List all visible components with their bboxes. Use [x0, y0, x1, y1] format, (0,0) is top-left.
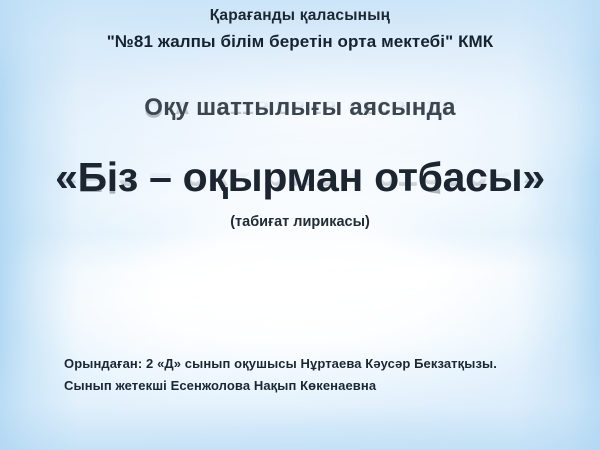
event-subtitle-text: Оқу шаттылығы аясында [0, 96, 600, 120]
credits-block: Орындаған: 2 «Д» сынып оқушысы Нұртаева … [64, 353, 497, 398]
credit-supervisor: Сынып жетекші Есенжолова Нақып Көкенаевн… [64, 375, 497, 397]
presentation-title-slide: Қарағанды қаласының "№81 жалпы білім бер… [0, 0, 600, 450]
credit-performer: Орындаған: 2 «Д» сынып оқушысы Нұртаева … [64, 353, 497, 375]
event-subtitle: Оқу шаттылығы аясында Оқу шаттылығы аясы… [0, 96, 600, 142]
genre-label: (табиғат лирикасы) [0, 214, 600, 230]
header-school-line: "№81 жалпы білім беретін орта мектебі" К… [0, 29, 600, 55]
header-city-line: Қарағанды қаласының [0, 4, 600, 27]
institution-header: Қарағанды қаласының "№81 жалпы білім бер… [0, 4, 600, 56]
main-title-text: «Біз – оқырман отбасы» [0, 157, 600, 198]
slide-content: Қарағанды қаласының "№81 жалпы білім бер… [0, 0, 600, 450]
